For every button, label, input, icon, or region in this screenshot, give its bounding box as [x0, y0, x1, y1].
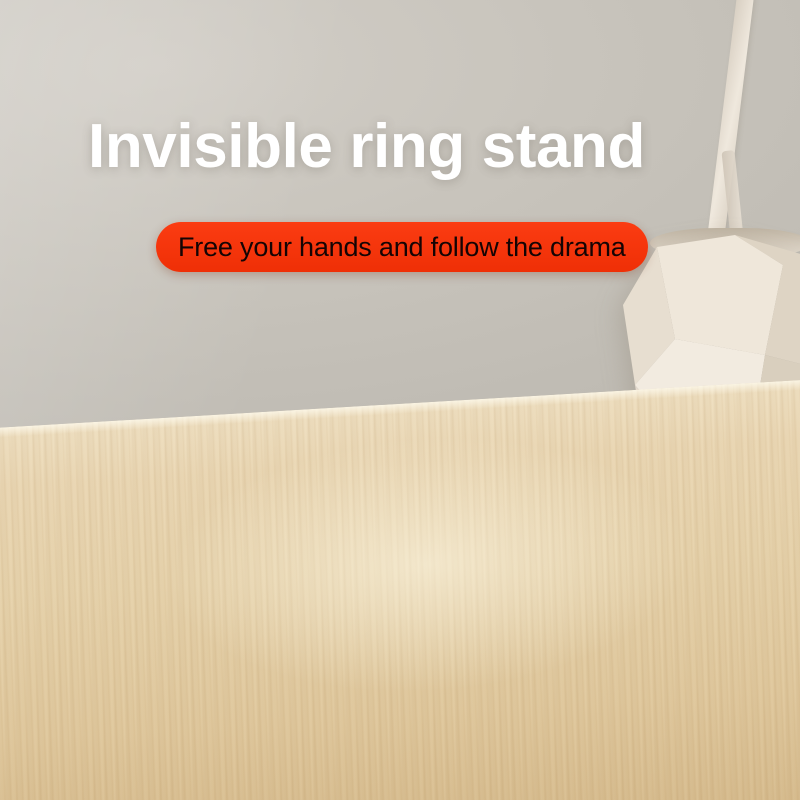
subtitle-pill: Free your hands and follow the drama	[156, 222, 648, 272]
headline: Invisible ring stand	[88, 114, 788, 179]
subtitle-text: Free your hands and follow the drama	[178, 232, 626, 263]
phone-case-product	[70, 418, 790, 800]
product-marketing-image: Invisible ring stand Free your hands and…	[0, 0, 800, 800]
